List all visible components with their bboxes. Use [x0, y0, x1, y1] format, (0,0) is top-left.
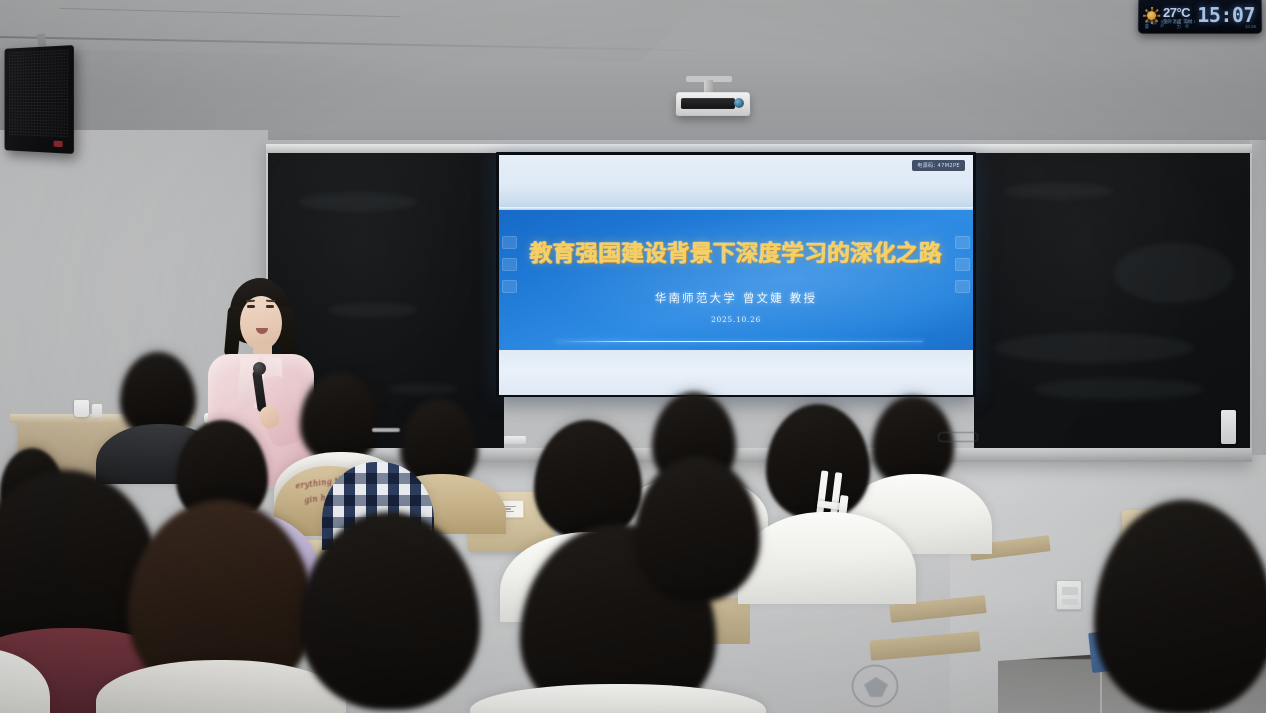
wall-power-outlet[interactable] [1056, 580, 1082, 610]
presenter-face [240, 296, 282, 350]
presenter-eye-right [266, 305, 274, 308]
paper-cup-secondary [92, 404, 102, 417]
eyeglasses [938, 432, 978, 442]
presenter-eye-left [247, 305, 255, 308]
air-quality-chip: 空气质量 优 良好 [1145, 21, 1171, 29]
speaker-grille [9, 49, 69, 137]
lecture-hall-scene: 27°C 室外温度 实时 空气质量 优 良好 风力 微风 1级 15:07 10… [0, 0, 1266, 713]
paper-cup [74, 400, 89, 417]
projector-source-tag: 电源码: 47M2PE [912, 160, 965, 171]
temperature-value: 27°C [1163, 6, 1193, 19]
ceiling-projector [676, 92, 750, 116]
slide-top-band [499, 155, 973, 210]
air-quality-value: 优 良好 [1160, 21, 1170, 29]
face-mask-strap [372, 428, 400, 432]
wall-speaker [5, 45, 74, 154]
slide-main-panel: 教育强国建设背景下深度学习的深化之路 华南师范大学 曾文婕 教授 2025.10… [499, 210, 973, 355]
air-quality-label: 空气质量 [1145, 21, 1159, 29]
speaker-brand-badge [54, 141, 63, 148]
wind-value: 微风 1级 [1185, 21, 1197, 29]
floor-tile-seam [1100, 667, 1102, 713]
wind-chip: 风力 微风 1级 [1177, 21, 1198, 29]
slide-divider-line [555, 341, 923, 342]
projector-lens [734, 98, 744, 108]
wall-clock-weather-panel: 27°C 室外温度 实时 空气质量 优 良好 风力 微风 1级 15:07 10… [1138, 0, 1263, 34]
presenter-hair-left [224, 305, 242, 358]
weather-section: 27°C 室外温度 实时 空气质量 优 良好 风力 微风 1级 [1139, 0, 1198, 33]
slide-presenter-line: 华南师范大学 曾文婕 教授 [499, 290, 973, 306]
slide-title: 教育强国建设背景下深度学习的深化之路 [499, 236, 973, 268]
board-eraser[interactable] [1221, 410, 1236, 444]
projection-screen: 教育强国建设背景下深度学习的深化之路 华南师范大学 曾文婕 教授 2025.10… [496, 152, 976, 397]
slide-date: 2025.10.26 [499, 315, 973, 324]
front-wall-right-edge [1250, 140, 1266, 470]
clock-date: 10.26 [1245, 24, 1256, 29]
wind-label: 风力 [1177, 21, 1184, 29]
slide-surface: 教育强国建设背景下深度学习的深化之路 华南师范大学 曾文婕 教授 2025.10… [499, 155, 973, 395]
slide-bottom-band [499, 350, 973, 395]
board-chalk-piece[interactable] [504, 436, 526, 444]
weather-mini-row: 空气质量 优 良好 风力 微风 1级 [1145, 21, 1197, 29]
chalkboard-right [974, 153, 1250, 448]
projector-vent-strip [681, 98, 735, 109]
shirt-logo-icon [852, 665, 898, 707]
